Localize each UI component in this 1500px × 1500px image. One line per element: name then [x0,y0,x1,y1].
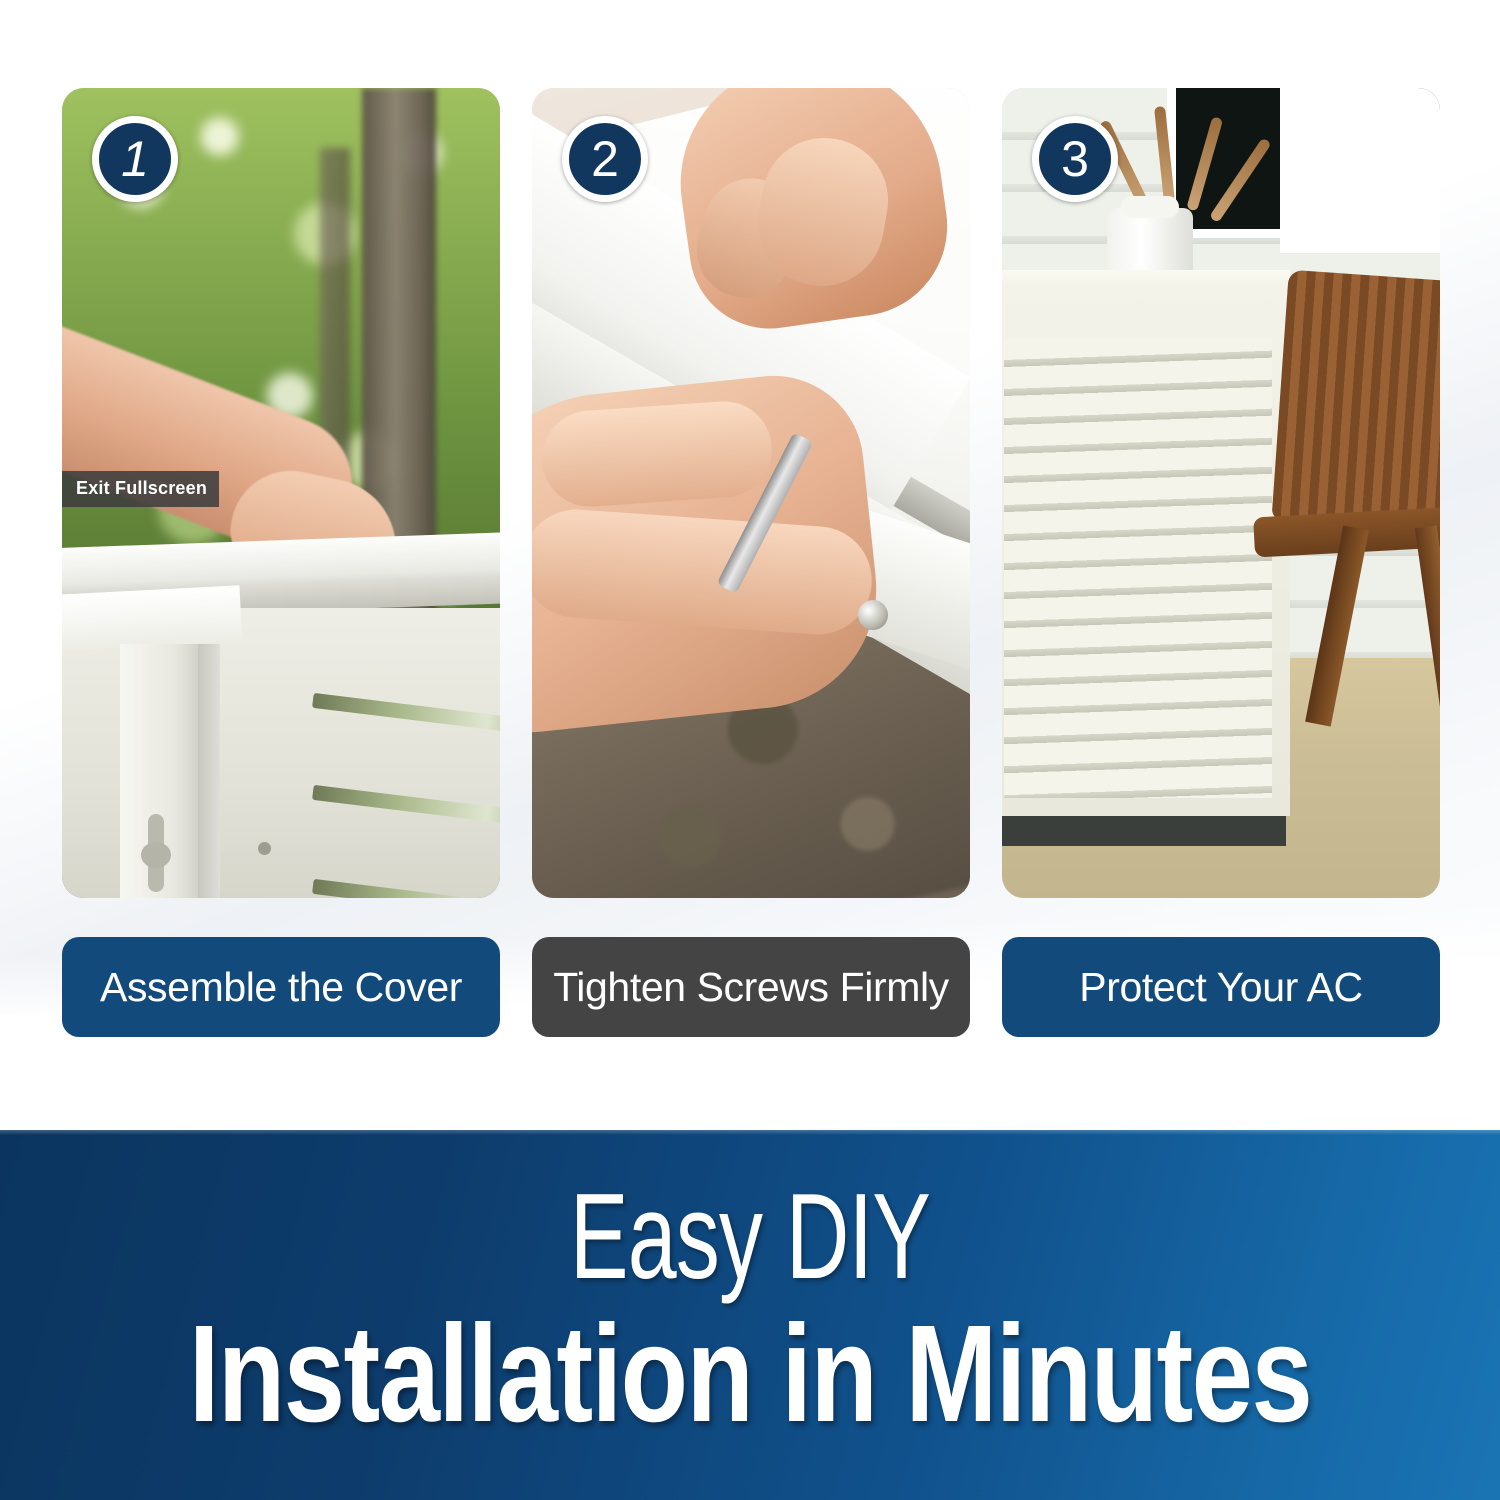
step-caption-1[interactable]: Assemble the Cover [62,937,500,1037]
chair-leg [1415,525,1440,716]
house-window-frame [1280,88,1440,253]
cover-screw [258,842,271,855]
step-caption-2[interactable]: Tighten Screws Firmly [532,937,970,1037]
steps-row: 1 Exit Fullscreen Assemble the Cover [62,88,1440,1037]
headline-banner: Easy DIY Installation in Minutes [0,1130,1500,1500]
step-card-3: 3 Protect Your AC [1002,88,1440,1037]
cover-latch [148,814,164,892]
step-photo-3: 3 [1002,88,1440,898]
step-number-badge-1: 1 [92,116,178,202]
step-number-badge-3: 3 [1032,116,1118,202]
step-card-1: 1 Exit Fullscreen Assemble the Cover [62,88,500,1037]
step-photo-1: 1 Exit Fullscreen [62,88,500,898]
cover-corner-cap [62,585,242,651]
screw-head [858,600,888,630]
step-photo-2: 2 [532,88,970,898]
headline-line-2: Installation in Minutes [150,1304,1350,1445]
cover-stile-shadow [198,644,220,898]
exit-fullscreen-button[interactable]: Exit Fullscreen [62,471,219,507]
step-caption-3[interactable]: Protect Your AC [1002,937,1440,1037]
chair-back [1272,270,1440,533]
chair-leg [1305,525,1369,726]
patio-chair [1240,276,1440,736]
headline-line-1: Easy DIY [210,1174,1290,1298]
product-infographic-poster: 1 Exit Fullscreen Assemble the Cover [0,0,1500,1500]
step-card-2: 2 Tighten Screws Firmly [532,88,970,1037]
lower-hand-finger [539,398,775,510]
headline: Easy DIY Installation in Minutes [0,1174,1500,1445]
ac-cover-louvers [1004,338,1272,798]
ac-cover-base [1002,816,1286,846]
step-number-badge-2: 2 [562,116,648,202]
